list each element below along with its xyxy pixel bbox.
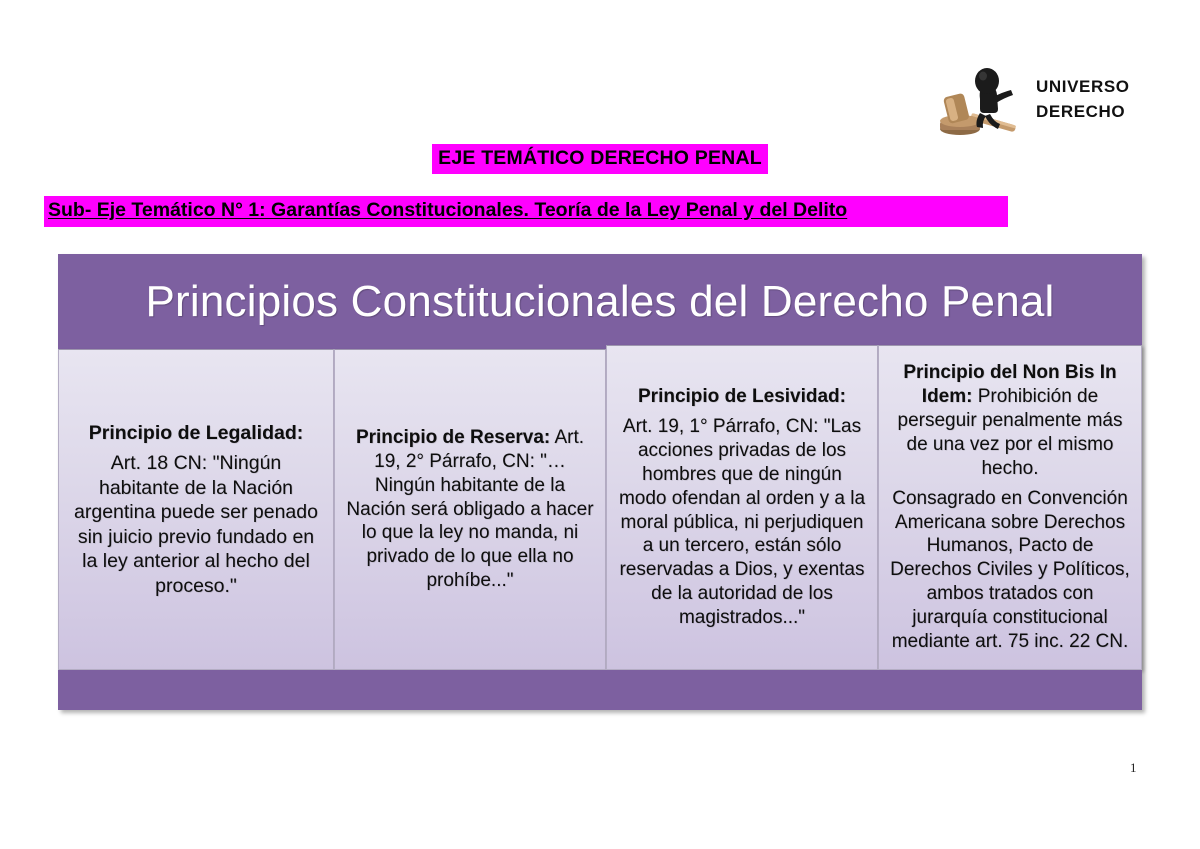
column-2-lead-text: Principio de Reserva: bbox=[356, 427, 550, 448]
column-2-body: Principio de Reserva: Art. 19, 2° Párraf… bbox=[345, 426, 595, 594]
main-heading-row: EJE TEMÁTICO DERECHO PENAL bbox=[0, 144, 1200, 174]
column-1-lead-text: Principio de Legalidad: bbox=[89, 422, 304, 444]
column-principio-de-reserva: Principio de Reserva: Art. 19, 2° Párraf… bbox=[334, 349, 606, 670]
column-3-lead-text: Principio de Lesividad: bbox=[638, 386, 846, 407]
diagram-title: Principios Constitucionales del Derecho … bbox=[145, 277, 1054, 327]
column-principio-del-non-bis-in-idem: Principio del Non Bis In Idem: Prohibici… bbox=[878, 345, 1142, 670]
brand-logo: UNIVERSO DERECHO bbox=[936, 52, 1186, 147]
column-3-body: Art. 19, 1° Párrafo, CN: "Las acciones p… bbox=[617, 415, 867, 630]
brand-line-2: DERECHO bbox=[1036, 100, 1130, 125]
sub-heading-row: Sub- Eje Temático N° 1: Garantías Consti… bbox=[44, 196, 1008, 227]
diagram-banner: Principios Constitucionales del Derecho … bbox=[58, 254, 1142, 349]
column-4-body-2: Consagrado en Convención Americana sobre… bbox=[889, 487, 1131, 655]
gavel-figure-icon bbox=[936, 57, 1022, 143]
principles-diagram: Principios Constitucionales del Derecho … bbox=[58, 254, 1142, 710]
column-1-body: Art. 18 CN: "Ningún habitante de la Naci… bbox=[69, 451, 323, 598]
column-1-lead: Principio de Legalidad: bbox=[69, 421, 323, 446]
column-2-body-text: Art. 19, 2° Párrafo, CN: "… Ningún habit… bbox=[346, 427, 593, 592]
diagram-columns: Principio de Legalidad: Art. 18 CN: "Nin… bbox=[58, 349, 1142, 670]
brand-line-1: UNIVERSO bbox=[1036, 75, 1130, 100]
page-title: EJE TEMÁTICO DERECHO PENAL bbox=[432, 144, 768, 174]
column-principio-de-legalidad: Principio de Legalidad: Art. 18 CN: "Nin… bbox=[58, 349, 334, 670]
column-principio-de-lesividad: Principio de Lesividad: Art. 19, 1° Párr… bbox=[606, 345, 878, 670]
page-number: 1 bbox=[1130, 760, 1137, 776]
brand-name: UNIVERSO DERECHO bbox=[1036, 75, 1130, 124]
column-4-body: Principio del Non Bis In Idem: Prohibici… bbox=[889, 361, 1131, 481]
diagram-footer-bar bbox=[58, 670, 1142, 710]
page-subtitle: Sub- Eje Temático N° 1: Garantías Consti… bbox=[44, 196, 1008, 227]
column-3-lead: Principio de Lesividad: bbox=[617, 385, 867, 409]
